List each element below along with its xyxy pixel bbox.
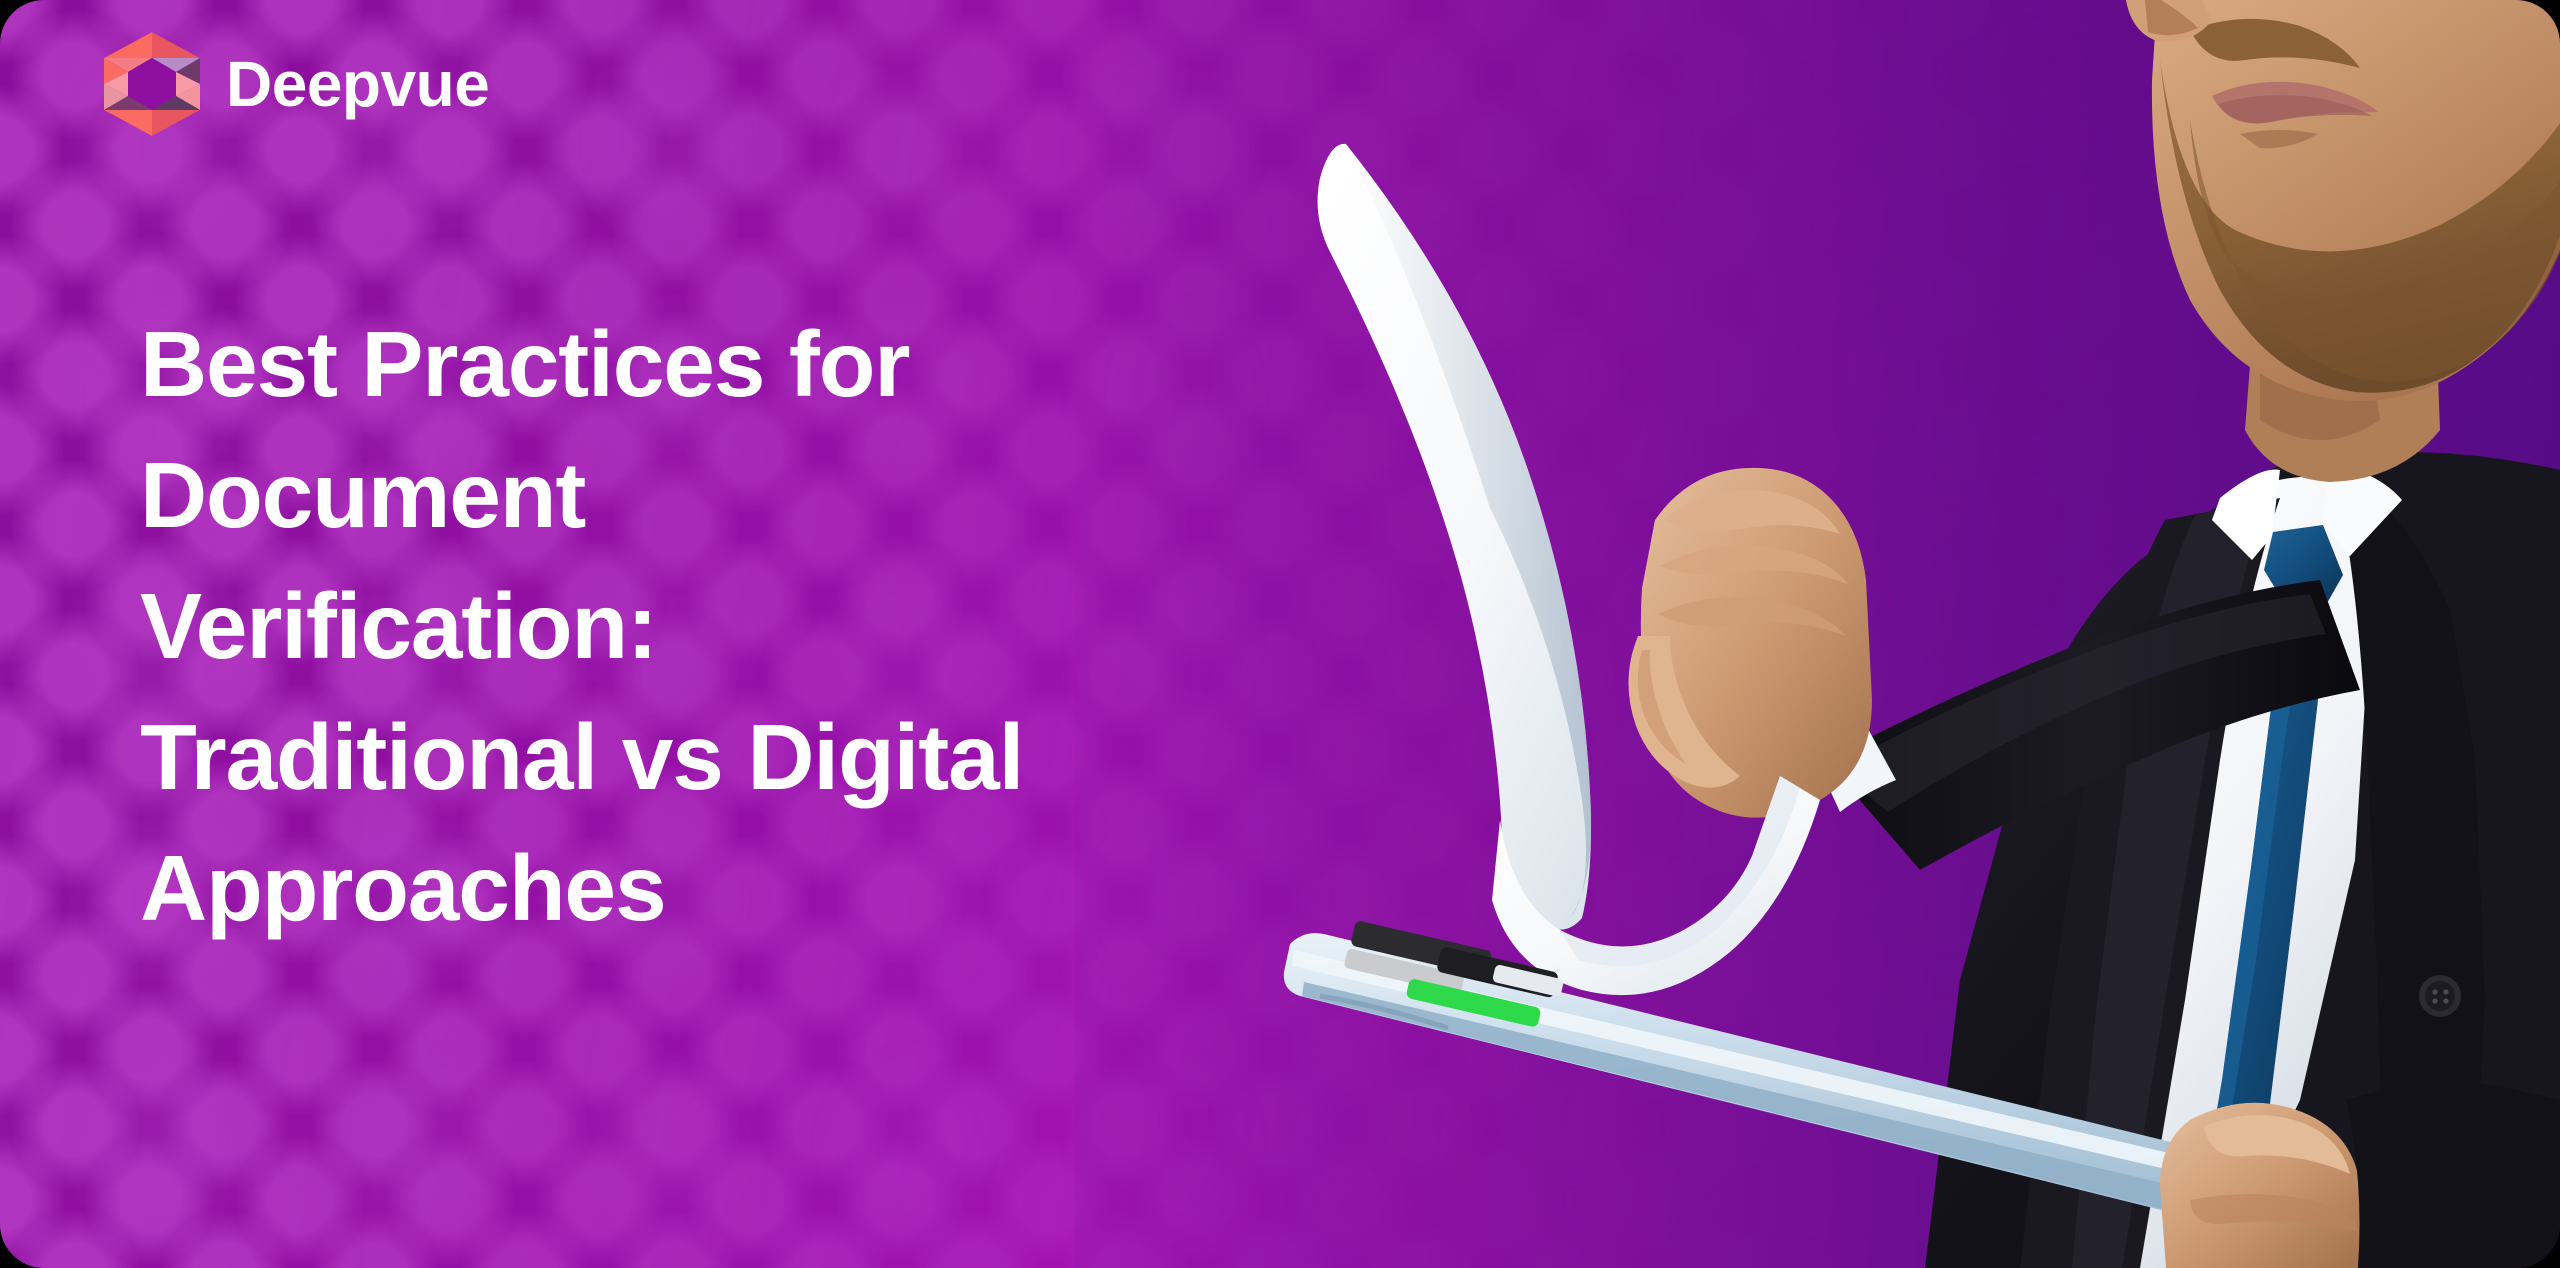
brand-logo[interactable]: Deepvue bbox=[104, 32, 489, 136]
hexagon-logo-icon bbox=[104, 32, 200, 136]
headline-line-2: Document bbox=[140, 430, 1470, 561]
brand-name: Deepvue bbox=[226, 52, 489, 116]
headline-line-3: Verification: bbox=[140, 561, 1470, 692]
headline-line-5: Approaches bbox=[140, 823, 1470, 954]
headline-line-4: Traditional vs Digital bbox=[140, 692, 1470, 823]
page-title: Best Practices for Document Verification… bbox=[140, 299, 1470, 954]
headline-line-1: Best Practices for bbox=[140, 299, 1470, 430]
blog-hero-banner: Deepvue Best Practices for Document Veri… bbox=[0, 0, 2560, 1268]
